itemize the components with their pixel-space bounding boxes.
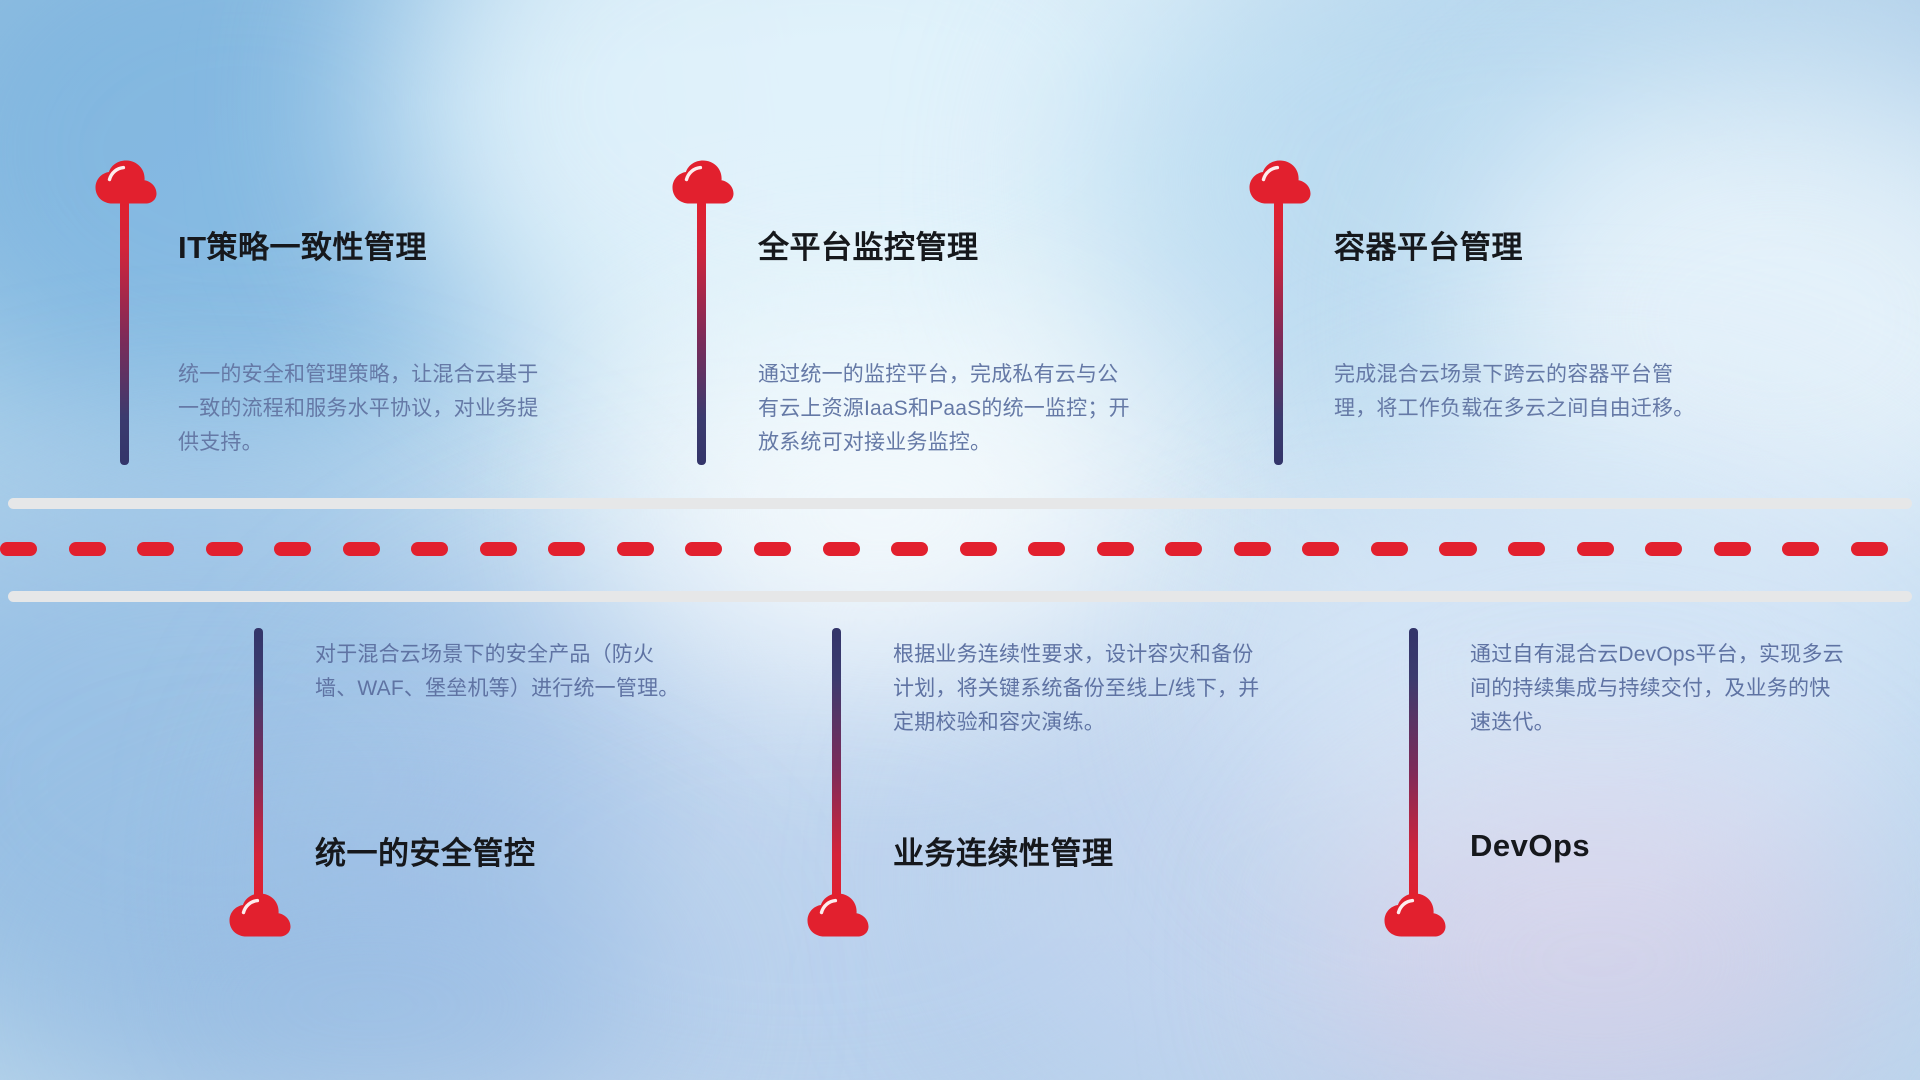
divider-dash bbox=[1234, 542, 1271, 556]
divider-dash bbox=[206, 542, 243, 556]
divider-dash bbox=[1028, 542, 1065, 556]
connector-stem bbox=[120, 200, 129, 465]
divider-dash bbox=[1371, 542, 1408, 556]
divider-bar-bottom bbox=[8, 591, 1912, 602]
divider-dash bbox=[1645, 542, 1682, 556]
cloud-icon bbox=[229, 893, 291, 937]
infographic-canvas: IT策略一致性管理 统一的安全和管理策略，让混合云基于一致的流程和服务水平协议，… bbox=[0, 0, 1920, 1080]
divider-dash bbox=[685, 542, 722, 556]
divider-dash bbox=[1165, 542, 1202, 556]
panel-body: 完成混合云场景下跨云的容器平台管理，将工作负载在多云之间自由迁移。 bbox=[1334, 358, 1714, 426]
divider-dash bbox=[1714, 542, 1751, 556]
divider-dash bbox=[754, 542, 791, 556]
red-dashed-separator bbox=[0, 542, 1920, 556]
divider-dash bbox=[480, 542, 517, 556]
divider-dash bbox=[1851, 542, 1888, 556]
divider-dash bbox=[617, 542, 654, 556]
divider-dash bbox=[548, 542, 585, 556]
connector-stem bbox=[1274, 200, 1283, 465]
divider-dash bbox=[823, 542, 860, 556]
divider-dash bbox=[1577, 542, 1614, 556]
divider-dash bbox=[274, 542, 311, 556]
panel-title: DevOps bbox=[1470, 828, 1590, 864]
divider-dash bbox=[1782, 542, 1819, 556]
divider-dash bbox=[1097, 542, 1134, 556]
panel-body: 对于混合云场景下的安全产品（防火墙、WAF、堡垒机等）进行统一管理。 bbox=[315, 638, 695, 706]
divider-dash bbox=[960, 542, 997, 556]
cloud-icon bbox=[807, 893, 869, 937]
cloud-icon bbox=[672, 160, 734, 204]
divider-dash bbox=[343, 542, 380, 556]
connector-stem bbox=[832, 628, 841, 903]
divider-dash bbox=[0, 542, 37, 556]
section-divider bbox=[0, 498, 1920, 608]
cloud-icon bbox=[1384, 893, 1446, 937]
panel-title: 容器平台管理 bbox=[1334, 222, 1523, 267]
panel-body: 统一的安全和管理策略，让混合云基于一致的流程和服务水平协议，对业务提供支持。 bbox=[178, 358, 558, 460]
panel-body: 通过自有混合云DevOps平台，实现多云间的持续集成与持续交付，及业务的快速迭代… bbox=[1470, 638, 1850, 740]
divider-dash bbox=[137, 542, 174, 556]
cloud-icon bbox=[95, 160, 157, 204]
panel-body: 根据业务连续性要求，设计容灾和备份计划，将关键系统备份至线上/线下，并定期校验和… bbox=[893, 638, 1273, 740]
divider-dash bbox=[69, 542, 106, 556]
divider-dash bbox=[1302, 542, 1339, 556]
panel-title: 业务连续性管理 bbox=[893, 828, 1114, 873]
connector-stem bbox=[1409, 628, 1418, 903]
cloud-icon bbox=[1249, 160, 1311, 204]
connector-stem bbox=[697, 200, 706, 465]
divider-bar-top bbox=[8, 498, 1912, 509]
panel-title: 统一的安全管控 bbox=[315, 828, 536, 873]
panel-body: 通过统一的监控平台，完成私有云与公有云上资源IaaS和PaaS的统一监控；开放系… bbox=[758, 358, 1138, 460]
divider-dash bbox=[891, 542, 928, 556]
divider-dash bbox=[1508, 542, 1545, 556]
divider-dash bbox=[1439, 542, 1476, 556]
divider-dash bbox=[411, 542, 448, 556]
panel-title: IT策略一致性管理 bbox=[178, 222, 427, 267]
panel-title: 全平台监控管理 bbox=[758, 222, 979, 267]
connector-stem bbox=[254, 628, 263, 903]
